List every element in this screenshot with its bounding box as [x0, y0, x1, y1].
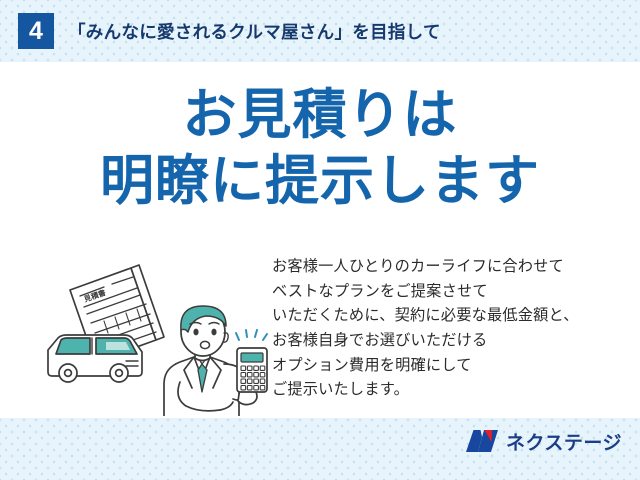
body-line: お客様一人ひとりのカーライフに合わせて: [272, 255, 632, 280]
brand-name: ネクステージ: [506, 428, 622, 455]
body-copy: お客様一人ひとりのカーライフに合わせて ベストなプランをご提案させて いただくた…: [272, 255, 632, 403]
headline-line-1: お見積りは: [0, 84, 640, 148]
promo-poster: 4 「みんなに愛されるクルマ屋さん」を目指して お見積りは 明瞭に提示します お…: [0, 0, 640, 480]
headline-line-2: 明瞭に提示します: [0, 150, 640, 214]
poster-header: 4 「みんなに愛されるクルマ屋さん」を目指して: [0, 0, 640, 62]
body-line: ご提示いたします。: [272, 378, 632, 403]
step-number-badge: 4: [18, 13, 54, 49]
body-line: ベストなプランをご提案させて: [272, 280, 632, 305]
nextstage-n-logo-icon: [465, 428, 499, 454]
brand-logo: ネクステージ: [465, 426, 622, 456]
headline: お見積りは 明瞭に提示します: [0, 84, 640, 213]
header-title: 「みんなに愛されるクルマ屋さん」を目指して: [68, 19, 441, 44]
sales-staff-illustration: 見積書: [34, 260, 274, 416]
body-line: いただくために、契約に必要な最低金額と、: [272, 304, 632, 329]
calculator-icon: [237, 348, 267, 392]
sparkle-icon: [236, 330, 267, 340]
body-line: オプション費用を明確にして: [272, 354, 632, 379]
content-card: お見積りは 明瞭に提示します お客様一人ひとりのカーライフに合わせて ベストなプ…: [0, 62, 640, 418]
body-line: お客様自身でお選びいただける: [272, 329, 632, 354]
van-illustration: [48, 335, 142, 382]
poster-footer: ネクステージ: [0, 418, 640, 480]
